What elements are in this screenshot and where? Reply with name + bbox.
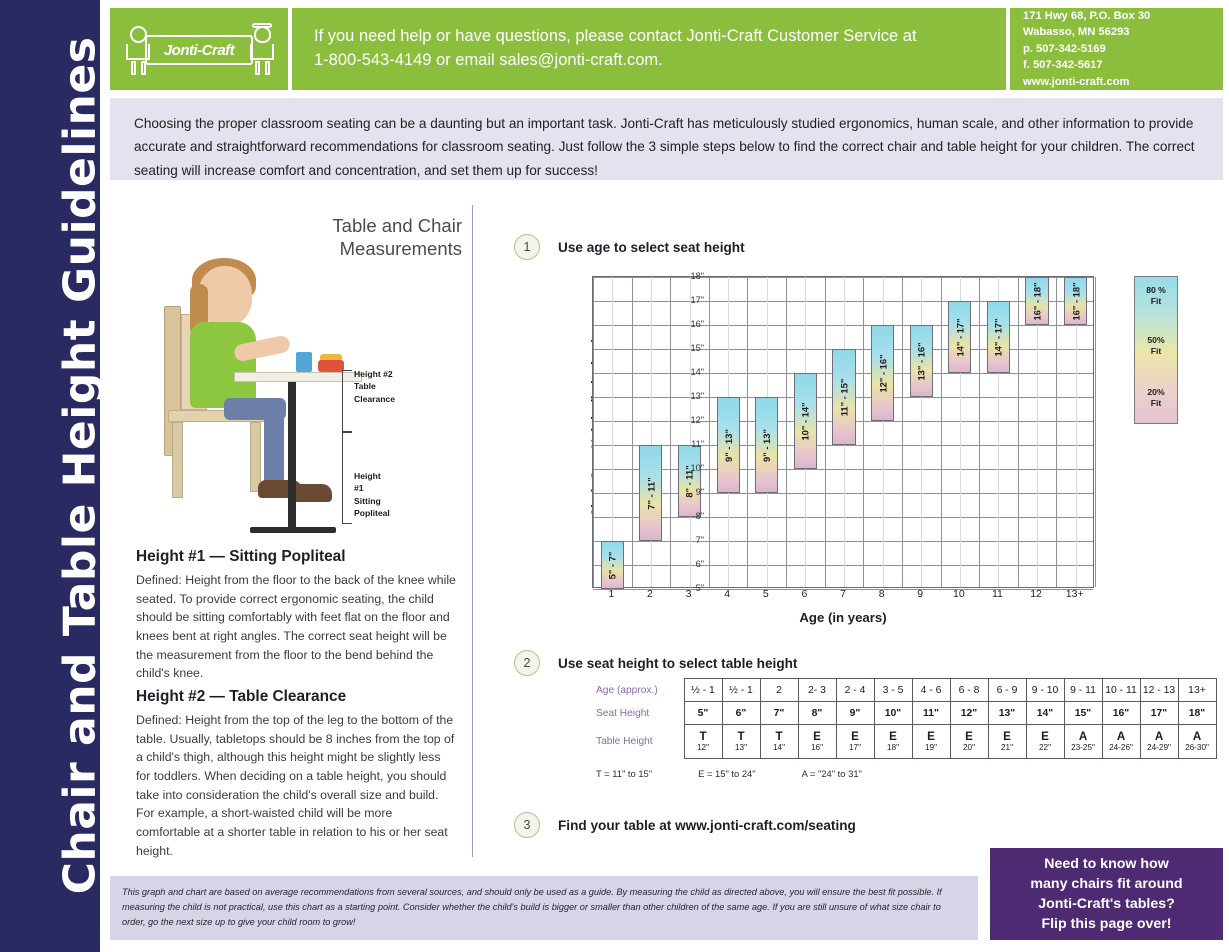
table-height-note: T = 11" to 15" — [596, 768, 652, 779]
callout-height-1: Height #1 Sitting Popliteal — [354, 470, 390, 520]
height-2-heading: Height #2 — Table Clearance — [136, 688, 456, 706]
table-cell: 12 - 13 — [1140, 679, 1178, 702]
contact-line-1: If you need help or have questions, plea… — [314, 25, 1006, 49]
chart-gridline-v — [747, 277, 748, 587]
table-row: Table HeightT12"T13"T14"E16"E17"E18"E19"… — [596, 725, 1216, 759]
legend-entry-80: 80 % Fit — [1135, 285, 1177, 306]
chart-bar-label: 9" - 13" — [761, 429, 772, 462]
chart-x-tick: 13+ — [1066, 588, 1084, 600]
chart-gridline-v-minor — [883, 277, 884, 587]
table-height-size: 13" — [723, 743, 760, 753]
table-height-code: E — [837, 730, 874, 743]
step-1-label: Use age to select seat height — [558, 240, 745, 255]
chart-gridline-v — [863, 277, 864, 587]
table-height-size: 14" — [761, 743, 798, 753]
table-height-code: T — [761, 730, 798, 743]
chart-gridline-v — [979, 277, 980, 587]
table-height-code: E — [1027, 730, 1064, 743]
chart-gridline-v — [902, 277, 903, 587]
chart-x-tick: 10 — [953, 588, 965, 600]
table-cell: 9" — [836, 702, 874, 725]
chart-x-tick: 5 — [763, 588, 769, 600]
left-column: Table and Chair Measurements — [118, 200, 470, 860]
logo-sign: Jonti-Craft — [145, 35, 253, 65]
table-cell: 2- 3 — [798, 679, 836, 702]
table-cell: E20" — [950, 725, 988, 759]
address-fax: f. 507-342-5617 — [1023, 57, 1223, 74]
intro-paragraph: Choosing the proper classroom seating ca… — [110, 98, 1223, 180]
height-1-body: Defined: Height from the floor to the ba… — [136, 571, 456, 683]
chart-x-tick: 6 — [801, 588, 807, 600]
chart-bar-label: 9" - 13" — [723, 429, 734, 462]
table-height-size: 24-26" — [1103, 743, 1140, 753]
chart-x-tick: 1 — [608, 588, 614, 600]
table-cell: 5" — [684, 702, 722, 725]
chart-gridline-v — [786, 277, 787, 587]
step-1-number: 1 — [514, 234, 540, 260]
table-cell: T13" — [722, 725, 760, 759]
step-3: 3 Find your table at www.jonti-craft.com… — [514, 812, 856, 838]
chart-bar-label: 14" - 17" — [993, 318, 1004, 356]
table-cell: 10" — [874, 702, 912, 725]
table-row: Seat Height5"6"7"8"9"10"11"12"13"14"15"1… — [596, 702, 1216, 725]
table-cell: 7" — [760, 702, 798, 725]
table-height-size: 16" — [799, 743, 836, 753]
table-cell: 9 - 11 — [1064, 679, 1102, 702]
table-height-code: T — [723, 730, 760, 743]
seat-to-table-height-table: Age (approx.)½ - 1½ - 122- 32 - 43 - 54 … — [596, 678, 1217, 759]
step-3-number: 3 — [514, 812, 540, 838]
table-height-code: A — [1103, 730, 1140, 743]
chart-bar-label: 10" - 14" — [800, 402, 811, 440]
table-row: Age (approx.)½ - 1½ - 122- 32 - 43 - 54 … — [596, 679, 1216, 702]
chart-y-tick: 17" — [691, 295, 704, 305]
table-height-code: E — [799, 730, 836, 743]
customer-service-contact: If you need help or have questions, plea… — [292, 8, 1006, 90]
chart-bar: 12" - 16" — [871, 325, 894, 421]
contact-line-2: 1-800-543-4149 or email sales@jonti-craf… — [314, 49, 1006, 73]
chart-gridline-v — [1095, 277, 1096, 587]
chart-bar: 5" - 7" — [601, 541, 624, 589]
page-spine: Chair and Table Height Guidelines — [0, 0, 100, 952]
chart-x-axis-label: Age (in years) — [592, 610, 1094, 625]
address-city: Wabasso, MN 56293 — [1023, 24, 1223, 41]
chart-bar-label: 7" - 11" — [645, 477, 656, 509]
chart-bar-label: 12" - 16" — [877, 354, 888, 392]
chart-bar: 11" - 15" — [832, 349, 855, 445]
table-cell: E17" — [836, 725, 874, 759]
chart-y-tick: 11" — [691, 439, 704, 449]
table-height-code: E — [875, 730, 912, 743]
chart-y-tick: 7" — [696, 535, 704, 545]
chart-y-tick: 9" — [696, 487, 704, 497]
table-height-size: 17" — [837, 743, 874, 753]
child-at-table-illustration: Height #2 Table Clearance Height #1 Sitt… — [138, 222, 358, 512]
chart-bar: 14" - 17" — [948, 301, 971, 373]
chart-x-tick: 8 — [879, 588, 885, 600]
chart-bar-label: 16" - 18" — [1032, 282, 1043, 320]
table-height-size: 21" — [989, 743, 1026, 753]
address-street: 171 Hwy 68, P.O. Box 30 — [1023, 8, 1223, 25]
table-clearance-bracket — [342, 370, 343, 432]
chart-bar: 16" - 18" — [1025, 277, 1048, 325]
table-cell: 2 - 4 — [836, 679, 874, 702]
table-cell: 11" — [912, 702, 950, 725]
chart-x-tick: 2 — [647, 588, 653, 600]
brand-logo: Jonti-Craft — [110, 8, 288, 90]
table-height-size: 19" — [913, 743, 950, 753]
table-height-code-notes: T = 11" to 15"E = 15" to 24"A = "24" to … — [596, 768, 862, 779]
table-cell: 14" — [1026, 702, 1064, 725]
seat-height-chart: Chair Seat Height (in inches) 5" - 7"7" … — [550, 270, 1210, 630]
chart-x-tick: 4 — [724, 588, 730, 600]
table-cell: E19" — [912, 725, 950, 759]
table-cell: 8" — [798, 702, 836, 725]
flip-page-callout: Need to know how many chairs fit around … — [990, 848, 1223, 940]
logo-text: Jonti-Craft — [164, 42, 234, 59]
table-height-code: A — [1141, 730, 1178, 743]
height-1-heading: Height #1 — Sitting Popliteal — [136, 548, 456, 566]
table-cell: 13+ — [1178, 679, 1216, 702]
step-2-label: Use seat height to select table height — [558, 656, 797, 671]
page-title: Chair and Table Height Guidelines — [55, 16, 106, 916]
address-website[interactable]: www.jonti-craft.com — [1023, 74, 1223, 91]
chart-bar: 13" - 16" — [910, 325, 933, 397]
chart-y-tick: 8" — [696, 511, 704, 521]
chart-bar-label: 16" - 18" — [1070, 282, 1081, 320]
chart-bar: 16" - 18" — [1064, 277, 1087, 325]
table-height-size: 20" — [951, 743, 988, 753]
table-cell: 15" — [1064, 702, 1102, 725]
table-cell: 9 - 10 — [1026, 679, 1064, 702]
chart-gridline-v — [670, 277, 671, 587]
table-cell: 6 - 8 — [950, 679, 988, 702]
chart-gridline-v — [709, 277, 710, 587]
table-cell: A23-25" — [1064, 725, 1102, 759]
table-cell: A24-29" — [1140, 725, 1178, 759]
chart-y-tick: 6" — [696, 559, 704, 569]
chart-bar: 7" - 11" — [639, 445, 662, 541]
chart-y-tick: 12" — [691, 415, 704, 425]
legend-entry-50: 50% Fit — [1135, 335, 1177, 356]
chart-x-tick: 11 — [992, 588, 1003, 600]
table-cell: T14" — [760, 725, 798, 759]
step-2-number: 2 — [514, 650, 540, 676]
table-cell: 6 - 9 — [988, 679, 1026, 702]
table-cell: 17" — [1140, 702, 1178, 725]
table-cell: A24-26" — [1102, 725, 1140, 759]
table-row-header: Table Height — [596, 725, 684, 759]
chart-y-tick: 10" — [691, 463, 704, 473]
table-height-size: 18" — [875, 743, 912, 753]
table-row-header: Age (approx.) — [596, 679, 684, 702]
company-address: 171 Hwy 68, P.O. Box 30 Wabasso, MN 5629… — [1010, 8, 1223, 90]
chart-bar-label: 5" - 7" — [607, 551, 618, 579]
chart-x-tick: 9 — [917, 588, 923, 600]
table-height-size: 12" — [685, 743, 722, 753]
column-divider — [472, 205, 473, 857]
chart-gridline-v — [1018, 277, 1019, 587]
chart-x-tick: 3 — [686, 588, 692, 600]
chart-gridline-v — [941, 277, 942, 587]
chart-y-tick: 18" — [691, 271, 704, 281]
table-cell: 2 — [760, 679, 798, 702]
table-height-code: E — [913, 730, 950, 743]
table-cell: 6" — [722, 702, 760, 725]
table-row-header: Seat Height — [596, 702, 684, 725]
step-3-label: Find your table at www.jonti-craft.com/s… — [558, 818, 856, 833]
step-2: 2 Use seat height to select table height — [514, 650, 797, 676]
table-cell: ½ - 1 — [722, 679, 760, 702]
table-cell: T12" — [684, 725, 722, 759]
chart-plot-area: 5" - 7"7" - 11"8" - 11"9" - 13"9" - 13"1… — [592, 276, 1094, 588]
chart-y-tick: 5" — [696, 583, 704, 593]
height-2-section: Height #2 — Table Clearance Defined: Hei… — [136, 688, 456, 861]
table-height-note: A = "24" to 31" — [802, 768, 862, 779]
table-cell: 13" — [988, 702, 1026, 725]
height-1-section: Height #1 — Sitting Popliteal Defined: H… — [136, 548, 456, 683]
chart-gridline-v — [1056, 277, 1057, 587]
poster-page: Chair and Table Height Guidelines Jonti-… — [0, 0, 1229, 952]
chart-bar-label: 13" - 16" — [916, 342, 927, 380]
table-height-size: 26-30" — [1179, 743, 1216, 753]
sitting-popliteal-bracket — [342, 432, 343, 524]
table-height-code: E — [989, 730, 1026, 743]
table-cell: E16" — [798, 725, 836, 759]
chart-bar: 14" - 17" — [987, 301, 1010, 373]
table-cell: 3 - 5 — [874, 679, 912, 702]
callout-height-2: Height #2 Table Clearance — [354, 368, 395, 405]
address-phone: p. 507-342-5169 — [1023, 41, 1223, 58]
chart-gridline-v-minor — [921, 277, 922, 587]
table-cell: E22" — [1026, 725, 1064, 759]
chart-bar: 8" - 11" — [678, 445, 701, 517]
flip-line-1: Need to know how — [1030, 854, 1182, 874]
chart-bar: 9" - 13" — [755, 397, 778, 493]
table-cell: 16" — [1102, 702, 1140, 725]
chart-y-tick: 13" — [691, 391, 704, 401]
chart-bar-label: 11" - 15" — [838, 378, 849, 416]
height-2-body: Defined: Height from the top of the leg … — [136, 711, 456, 861]
table-cell: 10 - 11 — [1102, 679, 1140, 702]
table-height-code: A — [1179, 730, 1216, 743]
table-height-code: E — [951, 730, 988, 743]
chart-gridline-v — [593, 277, 594, 587]
table-height-size: 22" — [1027, 743, 1064, 753]
table-cell: 4 - 6 — [912, 679, 950, 702]
table-cell: 18" — [1178, 702, 1216, 725]
legend-entry-20: 20% Fit — [1135, 387, 1177, 408]
flip-line-2: many chairs fit around — [1030, 874, 1182, 894]
chart-gridline-v — [825, 277, 826, 587]
chart-x-tick: 7 — [840, 588, 846, 600]
flip-line-3: Jonti-Craft's tables? — [1030, 894, 1182, 914]
chart-y-tick: 15" — [691, 343, 704, 353]
table-height-size: 24-29" — [1141, 743, 1178, 753]
table-cell: 12" — [950, 702, 988, 725]
table-cell: ½ - 1 — [684, 679, 722, 702]
step-1: 1 Use age to select seat height — [514, 234, 745, 260]
table-height-note: E = 15" to 24" — [698, 768, 755, 779]
chart-bar: 10" - 14" — [794, 373, 817, 469]
chart-y-tick: 16" — [691, 319, 704, 329]
chart-x-tick: 12 — [1030, 588, 1042, 600]
chart-y-tick: 14" — [691, 367, 704, 377]
disclaimer-text: This graph and chart are based on averag… — [110, 876, 978, 940]
chart-bar: 9" - 13" — [717, 397, 740, 493]
table-height-code: A — [1065, 730, 1102, 743]
chart-fit-legend: 80 % Fit 50% Fit 20% Fit — [1134, 276, 1178, 424]
table-cell: A26-30" — [1178, 725, 1216, 759]
table-height-size: 23-25" — [1065, 743, 1102, 753]
header: Jonti-Craft If you need help or have que… — [110, 8, 1223, 90]
flip-line-4: Flip this page over! — [1030, 914, 1182, 934]
table-cell: E18" — [874, 725, 912, 759]
chart-bar-label: 14" - 17" — [954, 318, 965, 356]
right-column: 1 Use age to select seat height Chair Se… — [500, 200, 1220, 860]
table-height-code: T — [685, 730, 722, 743]
table-cell: E21" — [988, 725, 1026, 759]
chart-gridline-v — [632, 277, 633, 587]
